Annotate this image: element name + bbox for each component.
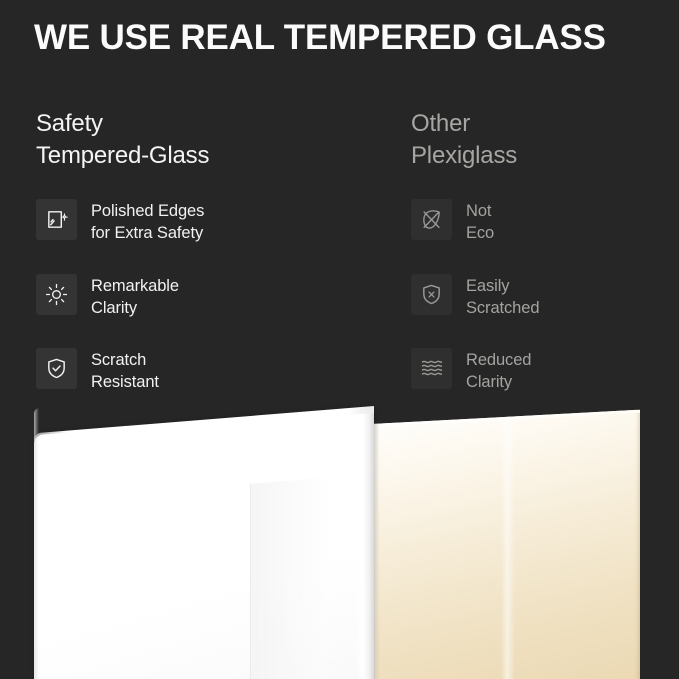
feature-row-polished-edges: Polished Edges for Extra Safety (36, 198, 396, 244)
wavy-lines-icon (411, 348, 452, 389)
page-title: WE USE REAL TEMPERED GLASS (34, 18, 606, 58)
feature-list-right: Not Eco Easily Scratched (411, 198, 679, 393)
shield-check-icon (36, 348, 77, 389)
feature-row-remarkable-clarity: Remarkable Clarity (36, 273, 396, 319)
shield-x-icon (411, 274, 452, 315)
feature-label: Reduced Clarity (466, 347, 531, 393)
plexiglass-panel (372, 410, 640, 679)
feature-label: Remarkable Clarity (91, 273, 179, 319)
feature-row-not-eco: Not Eco (411, 198, 679, 244)
feature-row-reduced-clarity: Reduced Clarity (411, 347, 679, 393)
column-safety-tempered-glass: Safety Tempered-Glass Polished Edges for… (36, 108, 396, 393)
tempered-glass-right-edge (356, 408, 374, 679)
feature-label: Scratch Resistant (91, 347, 159, 393)
leaf-slash-icon (411, 199, 452, 240)
tempered-glass-panel (34, 408, 372, 679)
column-title-left: Safety Tempered-Glass (36, 108, 396, 171)
comparison-infographic: WE USE REAL TEMPERED GLASS Safety Temper… (0, 0, 679, 679)
feature-label: Not Eco (466, 198, 494, 244)
feature-label: Easily Scratched (466, 273, 539, 319)
tempered-glass-left-edge (34, 408, 39, 679)
polished-edge-sparkle-icon (36, 199, 77, 240)
product-photo (0, 398, 679, 679)
feature-label: Polished Edges for Extra Safety (91, 198, 204, 244)
feature-list-left: Polished Edges for Extra Safety Remarkab… (36, 198, 396, 393)
feature-row-easily-scratched: Easily Scratched (411, 273, 679, 319)
feature-row-scratch-resistant: Scratch Resistant (36, 347, 396, 393)
column-other-plexiglass: Other Plexiglass Not Eco (411, 108, 679, 393)
sun-brightness-icon (36, 274, 77, 315)
column-title-right: Other Plexiglass (411, 108, 679, 171)
